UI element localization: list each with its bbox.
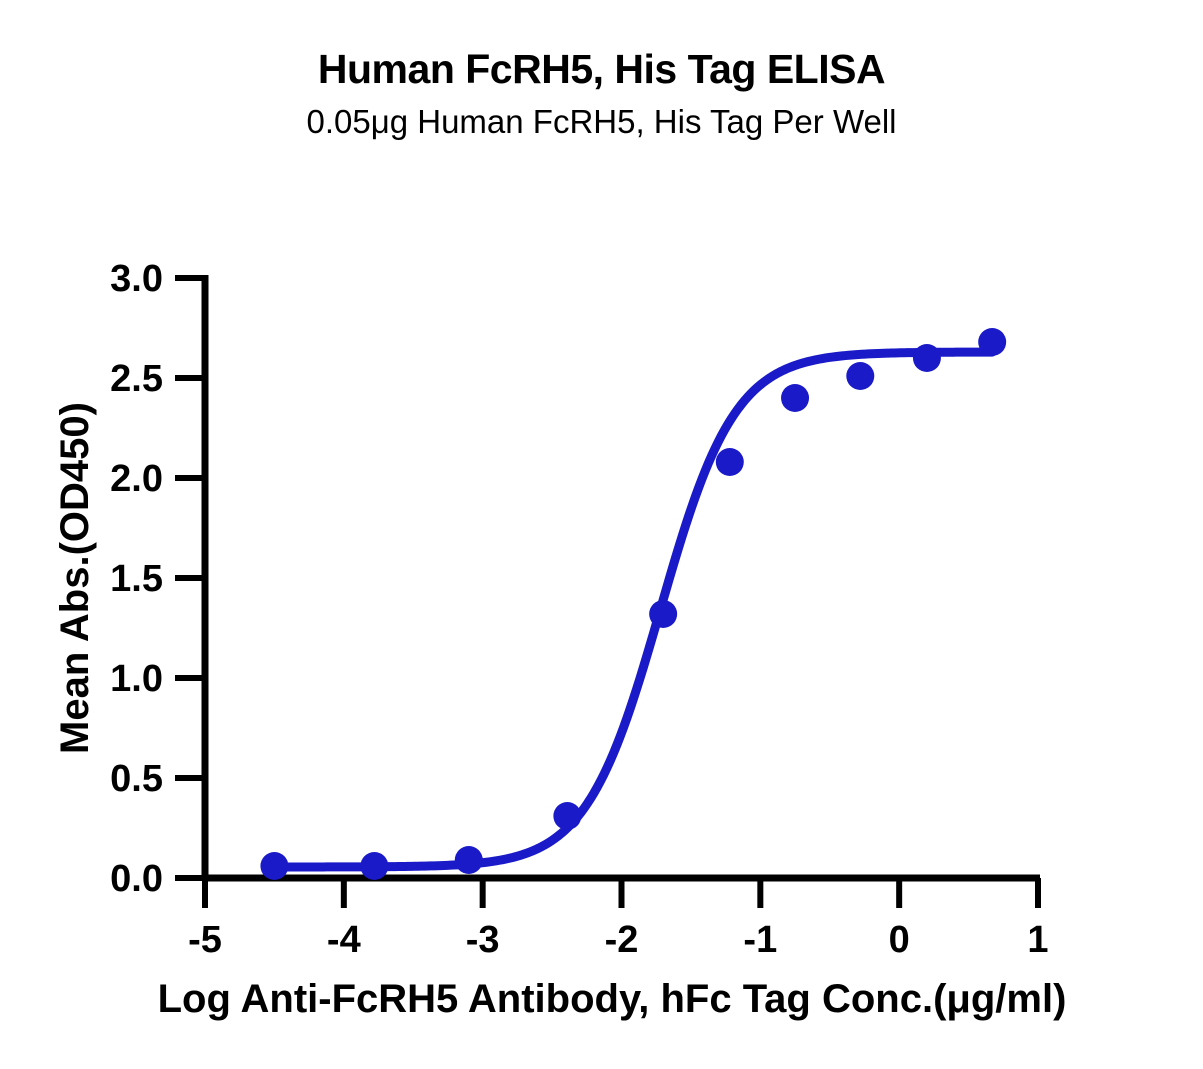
y-axis-title: Mean Abs.(OD450) (53, 402, 97, 754)
data-point (913, 344, 941, 372)
data-point (846, 362, 874, 390)
x-axis-title: Log Anti-FcRH5 Antibody, hFc Tag Conc.(μ… (158, 977, 1067, 1021)
data-point (781, 384, 809, 412)
x-tick-label: -3 (466, 919, 500, 961)
y-tick-label: 2.0 (110, 458, 163, 500)
data-point (978, 328, 1006, 356)
x-tick-label: -5 (188, 919, 222, 961)
x-tick-label: -2 (605, 919, 639, 961)
y-tick-label: 2.5 (110, 358, 163, 400)
data-point (360, 852, 388, 880)
axes (202, 275, 1040, 881)
data-point (455, 846, 483, 874)
y-tick-label: 0.0 (110, 858, 163, 900)
y-axis-ticks (175, 278, 205, 878)
y-tick-label: 3.0 (110, 258, 163, 300)
y-axis-tick-labels: 0.00.51.01.52.02.53.0 (110, 258, 163, 900)
data-point (553, 802, 581, 830)
y-tick-label: 1.0 (110, 658, 163, 700)
y-tick-label: 0.5 (110, 758, 163, 800)
plot-area: 0.00.51.01.52.02.53.0 -5-4-3-2-101 Mean … (0, 0, 1203, 1069)
chart-figure: Human FcRH5, His Tag ELISA 0.05μg Human … (0, 0, 1203, 1069)
data-point (649, 600, 677, 628)
x-tick-label: -1 (743, 919, 777, 961)
series-data-points (260, 328, 1006, 880)
data-point (260, 852, 288, 880)
y-tick-label: 1.5 (110, 558, 163, 600)
series-fit-curve (274, 352, 992, 867)
x-axis-tick-labels: -5-4-3-2-101 (188, 919, 1048, 961)
data-point (716, 448, 744, 476)
x-tick-label: 1 (1027, 919, 1048, 961)
x-tick-label: 0 (889, 919, 910, 961)
x-tick-label: -4 (327, 919, 361, 961)
x-axis-ticks (205, 878, 1038, 908)
